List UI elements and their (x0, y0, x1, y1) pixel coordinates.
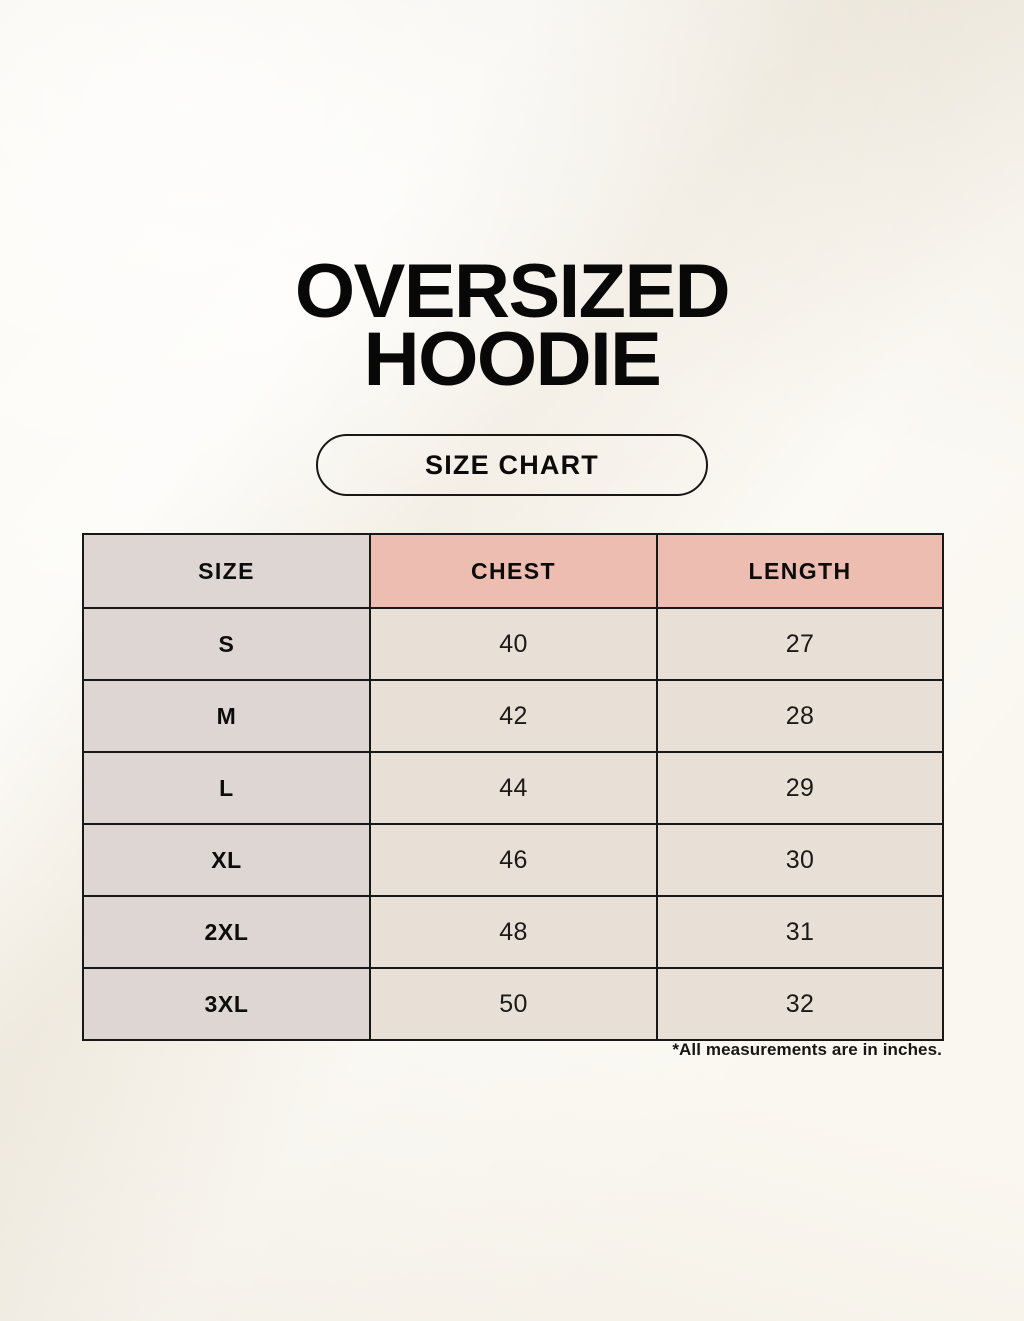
column-header-length: LENGTH (657, 534, 943, 608)
cell-chest-value: 48 (499, 918, 528, 946)
column-header-chest-label: CHEST (471, 558, 556, 584)
cell-length-value: 31 (786, 918, 815, 946)
column-header-length-label: LENGTH (749, 558, 852, 584)
size-table-head: SIZE CHEST LENGTH (83, 534, 943, 608)
table-header-row: SIZE CHEST LENGTH (83, 534, 943, 608)
cell-length: 28 (657, 680, 943, 752)
cell-chest: 42 (370, 680, 657, 752)
cell-chest: 50 (370, 968, 657, 1040)
cell-size: M (83, 680, 370, 752)
cell-chest-value: 40 (499, 630, 528, 658)
cell-chest-value: 42 (499, 702, 528, 730)
page-title-line-1: OVERSIZED (0, 258, 1024, 326)
cell-size-label: 2XL (205, 919, 249, 945)
cell-chest-value: 44 (499, 774, 528, 802)
cell-length: 30 (657, 824, 943, 896)
size-chart-page: OVERSIZED HOODIE SIZE CHART SIZE CHEST (0, 0, 1024, 1321)
cell-size-label: XL (211, 847, 242, 873)
cell-length-value: 29 (786, 774, 815, 802)
column-header-size: SIZE (83, 534, 370, 608)
size-table: SIZE CHEST LENGTH S 40 (82, 533, 944, 1041)
cell-chest: 46 (370, 824, 657, 896)
table-row: S 40 27 (83, 608, 943, 680)
size-table-body: S 40 27 M 42 (83, 608, 943, 1040)
size-chart-badge-wrap: SIZE CHART (0, 434, 1024, 496)
cell-length: 31 (657, 896, 943, 968)
cell-size-label: 3XL (205, 991, 249, 1017)
cell-size-label: S (219, 631, 235, 657)
cell-size: L (83, 752, 370, 824)
measurement-footnote: *All measurements are in inches. (672, 1040, 942, 1060)
page-title: OVERSIZED HOODIE (0, 258, 1024, 394)
cell-size: S (83, 608, 370, 680)
cell-length-value: 28 (786, 702, 815, 730)
table-row: M 42 28 (83, 680, 943, 752)
cell-size: XL (83, 824, 370, 896)
cell-length: 27 (657, 608, 943, 680)
cell-size-label: L (219, 775, 234, 801)
cell-chest-value: 46 (499, 846, 528, 874)
size-chart-badge: SIZE CHART (316, 434, 708, 496)
cell-length-value: 32 (786, 990, 815, 1018)
cell-size-label: M (217, 703, 237, 729)
table-row: XL 46 30 (83, 824, 943, 896)
cell-chest: 48 (370, 896, 657, 968)
table-row: 3XL 50 32 (83, 968, 943, 1040)
table-row: L 44 29 (83, 752, 943, 824)
size-table-wrap: SIZE CHEST LENGTH S 40 (82, 533, 942, 1041)
column-header-size-label: SIZE (198, 558, 255, 584)
cell-size: 2XL (83, 896, 370, 968)
size-chart-badge-label: SIZE CHART (425, 450, 599, 481)
cell-length-value: 27 (786, 630, 815, 658)
cell-chest: 40 (370, 608, 657, 680)
cell-length: 29 (657, 752, 943, 824)
cell-chest-value: 50 (499, 990, 528, 1018)
column-header-chest: CHEST (370, 534, 657, 608)
cell-size: 3XL (83, 968, 370, 1040)
cell-length-value: 30 (786, 846, 815, 874)
cell-length: 32 (657, 968, 943, 1040)
table-row: 2XL 48 31 (83, 896, 943, 968)
page-title-line-2: HOODIE (0, 326, 1024, 394)
cell-chest: 44 (370, 752, 657, 824)
